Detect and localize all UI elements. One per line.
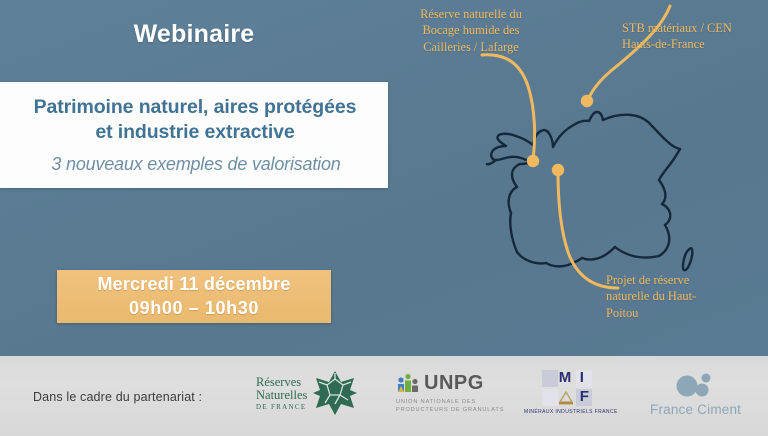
title-line-2: et industrie extractive bbox=[95, 121, 294, 143]
page-title: Patrimoine naturel, aires protégées et i… bbox=[12, 95, 371, 145]
title-line-1: Patrimoine naturel, aires protégées bbox=[34, 96, 357, 118]
logo-mif: M I F MINÉRAUX INDUSTRIELS FRANCE bbox=[524, 368, 618, 415]
map-label-haut-poitou: Projet de réserve naturelle du Haut- Poi… bbox=[606, 272, 746, 321]
rnf-line-1: Réserves bbox=[256, 376, 307, 389]
mif-letter-m: M bbox=[559, 369, 572, 386]
map-label-cailleries-line-2: Bocage humide des bbox=[422, 23, 519, 37]
map-label-haut-poitou-line-1: Projet de réserve bbox=[606, 273, 689, 287]
date-badge: Mercredi 11 décembre 09h00 – 10h30 bbox=[57, 270, 331, 323]
logo-france-ciment: France Ciment bbox=[650, 372, 741, 417]
kicker-webinaire: Webinaire bbox=[0, 20, 388, 49]
france-map-area: Réserve naturelle du Bocage humide des C… bbox=[400, 0, 768, 356]
france-ciment-circles-icon bbox=[673, 372, 719, 400]
mif-letter-f: F bbox=[580, 388, 589, 405]
slide-stage: Webinaire Patrimoine naturel, aires prot… bbox=[0, 0, 768, 356]
mif-letter-i: I bbox=[580, 369, 584, 386]
map-label-stb: STB matériaux / CEN Hauts-de-France bbox=[622, 20, 768, 53]
page-subtitle: 3 nouveaux exemples de valorisation bbox=[41, 154, 340, 175]
unpg-people-icon bbox=[396, 372, 420, 394]
partnership-label: Dans le cadre du partenariat : bbox=[33, 390, 202, 404]
rnf-star-emblem bbox=[312, 370, 358, 416]
map-label-cailleries-line-1: Réserve naturelle du bbox=[420, 7, 522, 21]
logo-unpg: UNPG UNION NATIONALE DES PRODUCTEURS DE … bbox=[396, 372, 504, 415]
france-ciment-wordmark: France Ciment bbox=[650, 402, 741, 417]
map-label-haut-poitou-line-3: Poitou bbox=[606, 306, 638, 320]
unpg-tagline-line-1: UNION NATIONALE DES bbox=[396, 398, 504, 406]
logo-reserves-naturelles-de-france: Réserves Naturelles DE FRANCE bbox=[256, 370, 358, 416]
map-label-stb-line-1: STB matériaux / CEN bbox=[622, 21, 732, 35]
map-label-haut-poitou-line-2: naturelle du Haut- bbox=[606, 289, 696, 303]
mif-grid: M I F bbox=[542, 368, 600, 408]
webinar-announcement-slide: Webinaire Patrimoine naturel, aires prot… bbox=[0, 0, 768, 436]
rnf-line-2: Naturelles bbox=[256, 389, 307, 402]
map-label-stb-line-2: Hauts-de-France bbox=[622, 37, 705, 51]
map-pin-haut-poitou bbox=[552, 164, 564, 176]
map-label-cailleries: Réserve naturelle du Bocage humide des C… bbox=[386, 6, 556, 55]
rnf-line-3: DE FRANCE bbox=[256, 404, 307, 411]
unpg-tagline-line-2: PRODUCTEURS DE GRANULATS bbox=[396, 406, 504, 414]
time-text: 09h00 – 10h30 bbox=[129, 298, 259, 319]
unpg-wordmark: UNPG bbox=[424, 373, 484, 393]
map-pin-stb bbox=[581, 95, 593, 107]
unpg-row: UNPG bbox=[396, 372, 484, 394]
map-label-cailleries-line-3: Cailleries / Lafarge bbox=[423, 40, 518, 54]
rnf-wordmark: Réserves Naturelles DE FRANCE bbox=[256, 376, 307, 411]
map-pin-cailleries bbox=[527, 155, 539, 167]
date-text: Mercredi 11 décembre bbox=[97, 274, 290, 295]
mif-tagline: MINÉRAUX INDUSTRIELS FRANCE bbox=[524, 409, 618, 415]
title-panel: Patrimoine naturel, aires protégées et i… bbox=[0, 82, 388, 188]
unpg-tagline: UNION NATIONALE DES PRODUCTEURS DE GRANU… bbox=[396, 398, 504, 415]
